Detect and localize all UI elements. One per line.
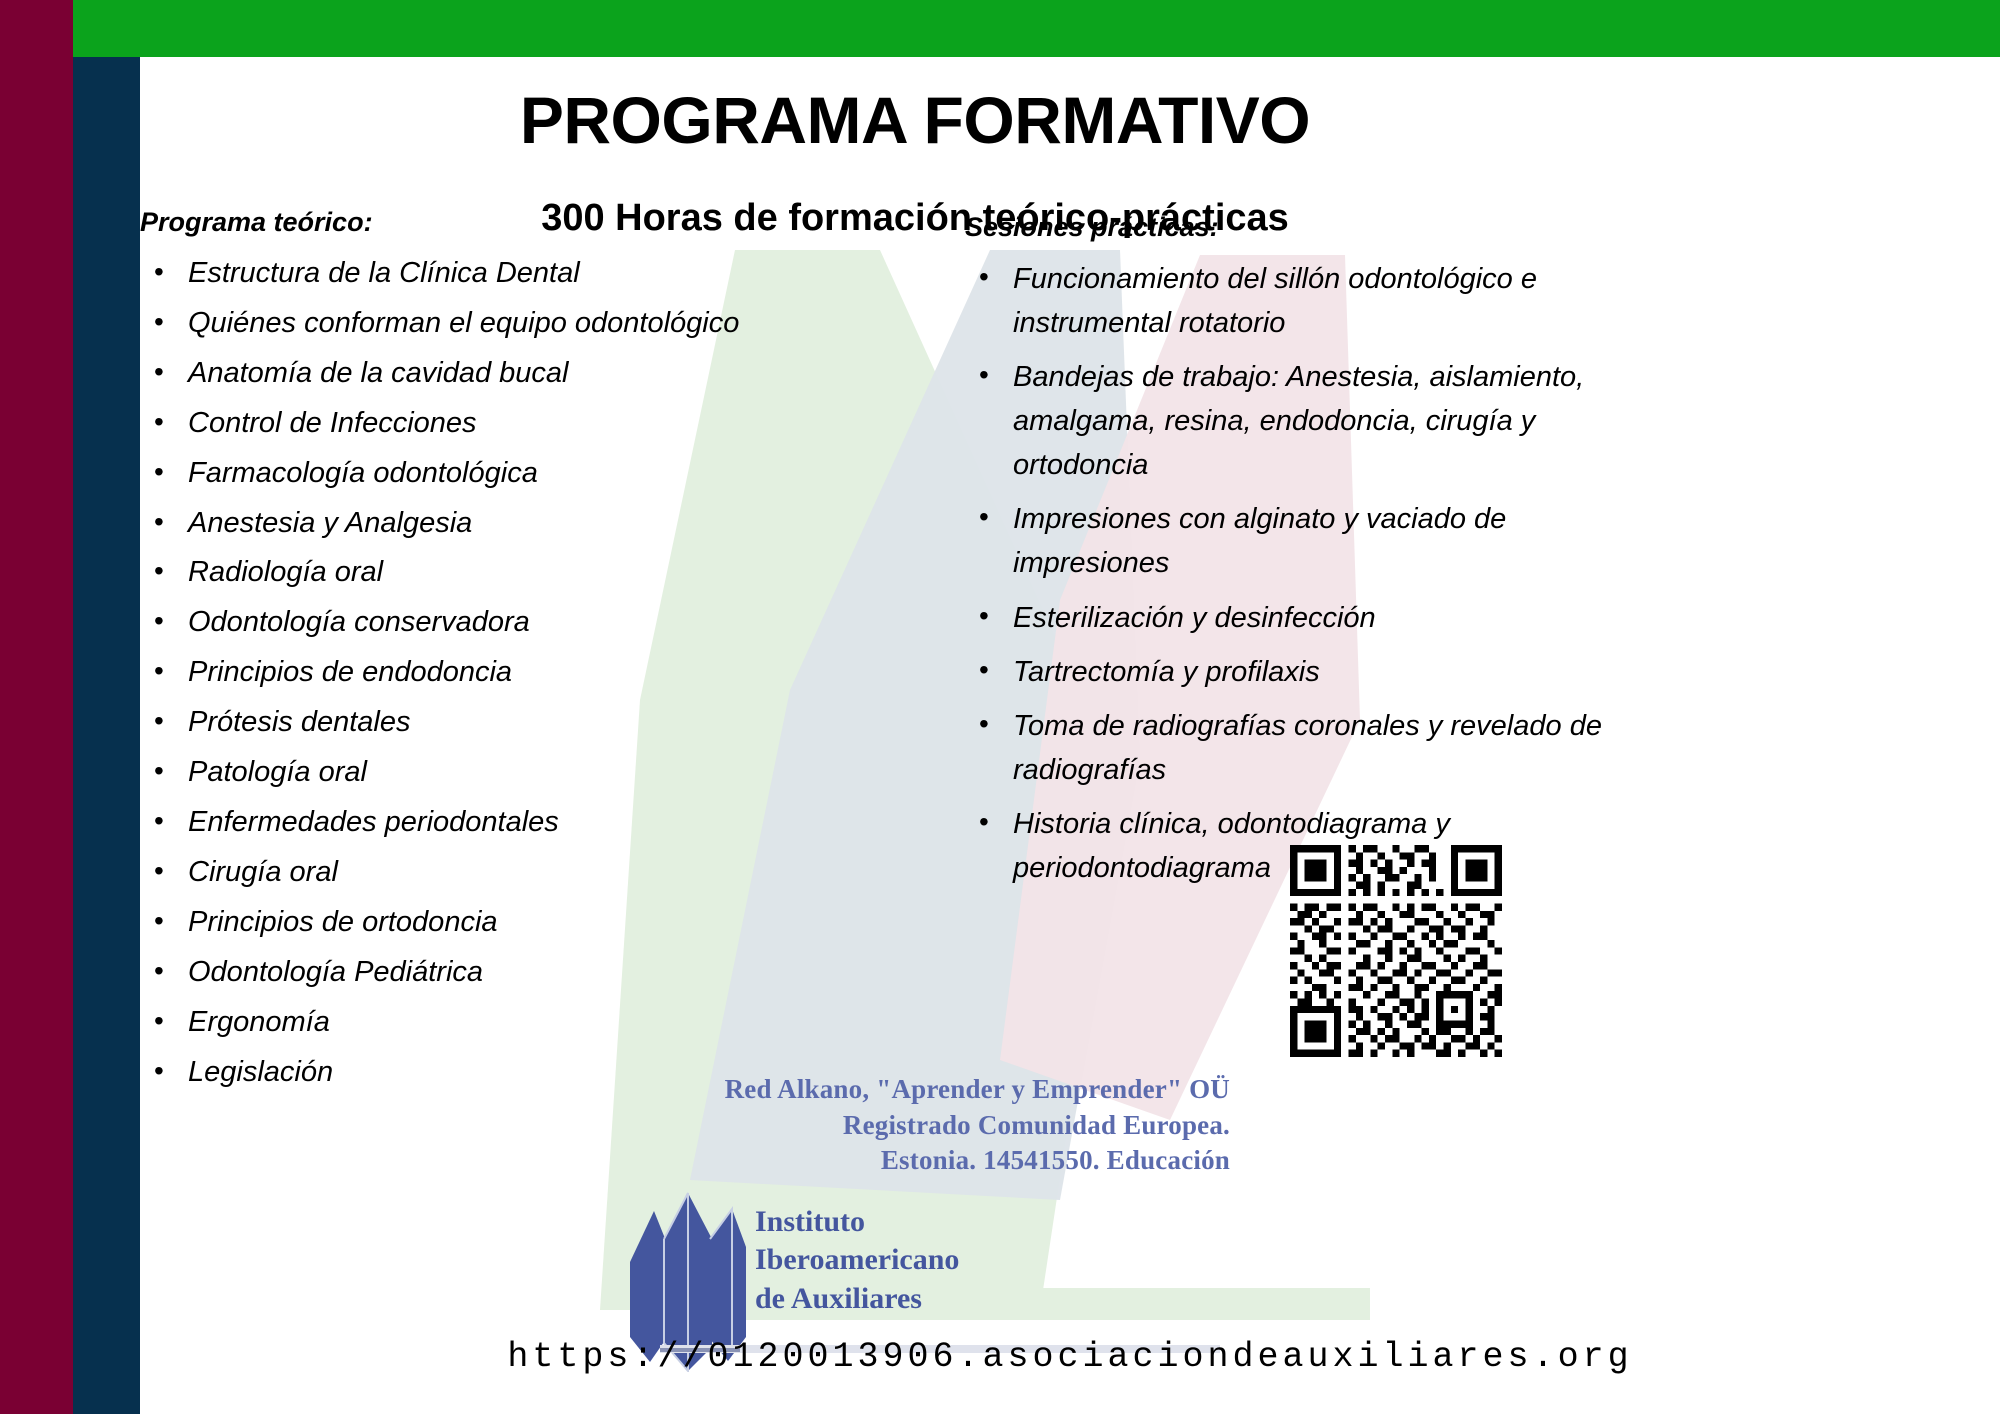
list-item: Estructura de la Clínica Dental: [140, 252, 780, 295]
registration-line: Registrado Comunidad Europea.: [610, 1108, 1230, 1144]
left-navy-accent-bar: [73, 57, 140, 1414]
list-item: Quiénes conforman el equipo odontológico: [140, 302, 780, 345]
registration-line: Red Alkano, "Aprender y Emprender" OÜ: [610, 1072, 1230, 1108]
list-item: Esterilización y desinfección: [965, 596, 1665, 640]
institute-logo-block: Red Alkano, "Aprender y Emprender" OÜ Re…: [610, 1072, 1250, 1363]
list-item: Control de Infecciones: [140, 402, 780, 445]
top-green-accent-bar: [73, 0, 2000, 57]
list-item: Impresiones con alginato y vaciado de im…: [965, 497, 1665, 585]
list-item: Bandejas de trabajo: Anestesia, aislamie…: [965, 355, 1665, 487]
list-item: Patología oral: [140, 751, 780, 794]
list-item: Cirugía oral: [140, 851, 780, 894]
institute-line: de Auxiliares: [755, 1280, 959, 1318]
poster-content: PROGRAMA FORMATIVO 300 Horas de formació…: [140, 57, 2000, 1414]
practical-sessions-heading: Sesiones prácticas:: [965, 212, 1665, 243]
list-item: Tartrectomía y profilaxis: [965, 650, 1665, 694]
institute-line: Instituto: [755, 1203, 959, 1241]
qr-code[interactable]: [1290, 845, 1502, 1057]
theory-program-list: Estructura de la Clínica Dental Quiénes …: [140, 252, 780, 1093]
list-item: Toma de radiografías coronales y revelad…: [965, 704, 1665, 792]
list-item: Funcionamiento del sillón odontológico e…: [965, 257, 1665, 345]
list-item: Principios de ortodoncia: [140, 901, 780, 944]
list-item: Anatomía de la cavidad bucal: [140, 352, 780, 395]
list-item: Prótesis dentales: [140, 701, 780, 744]
registration-text: Red Alkano, "Aprender y Emprender" OÜ Re…: [610, 1072, 1230, 1179]
institute-name: Instituto Iberoamericano de Auxiliares: [755, 1203, 959, 1318]
practical-sessions-column: Sesiones prácticas: Funcionamiento del s…: [965, 212, 1665, 900]
theory-program-column: Programa teórico: Estructura de la Clíni…: [140, 207, 780, 1100]
list-item: Farmacología odontológica: [140, 452, 780, 495]
registration-line: Estonia. 14541550. Educación: [610, 1143, 1230, 1179]
list-item: Ergonomía: [140, 1001, 780, 1044]
theory-program-heading: Programa teórico:: [140, 207, 780, 238]
list-item: Odontología Pediátrica: [140, 951, 780, 994]
institute-line: Iberoamericano: [755, 1241, 959, 1279]
list-item: Enfermedades periodontales: [140, 801, 780, 844]
page-title: PROGRAMA FORMATIVO: [140, 82, 1690, 158]
list-item: Anestesia y Analgesia: [140, 502, 780, 545]
list-item: Radiología oral: [140, 551, 780, 594]
list-item: Principios de endodoncia: [140, 651, 780, 694]
website-url[interactable]: https://0120013906.asociaciondeauxiliare…: [140, 1337, 2000, 1377]
list-item: Odontología conservadora: [140, 601, 780, 644]
left-maroon-accent-bar: [0, 0, 73, 1414]
practical-sessions-list: Funcionamiento del sillón odontológico e…: [965, 257, 1665, 890]
